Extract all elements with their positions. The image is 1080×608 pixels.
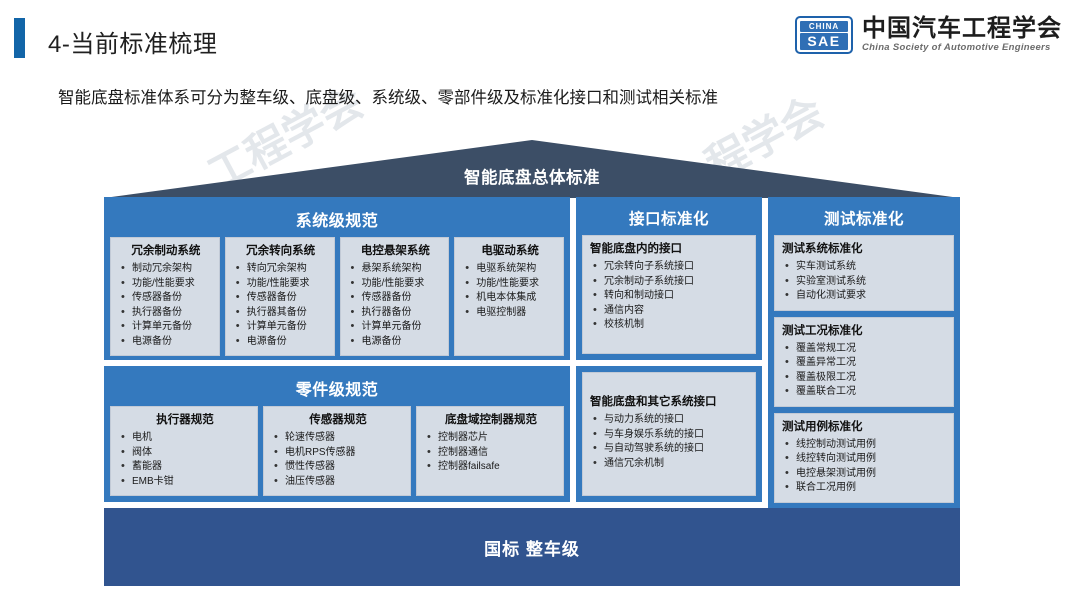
card-item-list: 悬架系统架构 功能/性能要求 传感器备份 执行器备份 计算单元备份 电源备份 [348,262,444,349]
list-item: 传感器备份 [233,291,329,306]
list-item: 功能/性能要求 [118,277,214,292]
card-item-list: 实车测试系统 实验室测试系统 自动化测试要求 [782,260,948,304]
logo-name-en: China Society of Automotive Engineers [862,42,1062,54]
list-item: 传感器备份 [348,291,444,306]
card-title: 执行器规范 [118,413,252,428]
list-item: 传感器备份 [118,291,214,306]
list-item: 制动冗余架构 [118,262,214,277]
list-item: 计算单元备份 [118,320,214,335]
card-test-condition-standardization[interactable]: 测试工况标准化 覆盖常规工况 覆盖异常工况 覆盖极限工况 覆盖联合工况 [774,317,954,407]
card-title: 测试用例标准化 [782,420,948,435]
card-test-system-standardization[interactable]: 测试系统标准化 实车测试系统 实验室测试系统 自动化测试要求 [774,235,954,311]
sae-badge-icon: CHINA SAE [795,16,853,54]
list-item: 惯性传感器 [271,460,405,475]
diagram-roof: 智能底盘总体标准 [104,140,960,198]
diagram-base[interactable]: 国标 整车级 [104,508,960,586]
card-item-list: 与动力系统的接口 与车身娱乐系统的接口 与自动驾驶系统的接口 通信冗余机制 [590,413,750,471]
column-left: 系统级规范 冗余制动系统 制动冗余架构 功能/性能要求 传感器备份 执行器备份 … [104,197,570,502]
card-sensor-spec[interactable]: 传感器规范 轮速传感器 电机RPS传感器 惯性传感器 油压传感器 [263,406,411,496]
card-title: 智能底盘内的接口 [590,242,750,257]
title-accent-bar [14,18,25,58]
list-item: 覆盖极限工况 [782,371,948,386]
list-item: 执行器备份 [118,306,214,321]
card-test-case-standardization[interactable]: 测试用例标准化 线控制动测试用例 线控转向测试用例 电控悬架测试用例 联合工况用… [774,413,954,503]
panel-interface-standardization[interactable]: 接口标准化 智能底盘内的接口 冗余转向子系统接口 冗余制动子系统接口 转向和制动… [576,197,762,360]
panel-test-standardization[interactable]: 测试标准化 测试系统标准化 实车测试系统 实验室测试系统 自动化测试要求 测试工… [768,197,960,509]
card-actuator-spec[interactable]: 执行器规范 电机 阀体 蓄能器 EMB卡钳 [110,406,258,496]
list-item: 电机RPS传感器 [271,446,405,461]
list-item: EMB卡钳 [118,475,252,490]
card-title: 底盘域控制器规范 [424,413,558,428]
list-item: 覆盖常规工况 [782,342,948,357]
roof-label: 智能底盘总体标准 [104,140,960,198]
panel-cards: 智能底盘内的接口 冗余转向子系统接口 冗余制动子系统接口 转向和制动接口 通信内… [582,235,756,354]
card-item-list: 制动冗余架构 功能/性能要求 传感器备份 执行器备份 计算单元备份 电源备份 [118,262,214,349]
list-item: 覆盖异常工况 [782,356,948,371]
card-item-list: 冗余转向子系统接口 冗余制动子系统接口 转向和制动接口 通信内容 校核机制 [590,260,750,333]
card-title: 电驱动系统 [462,244,558,259]
card-item-list: 控制器芯片 控制器通信 控制器failsafe [424,431,558,475]
list-item: 电控悬架测试用例 [782,467,948,482]
card-electric-drive[interactable]: 电驱动系统 电驱系统架构 功能/性能要求 机电本体集成 电驱控制器 [454,237,564,356]
column-test: 测试标准化 测试系统标准化 实车测试系统 实验室测试系统 自动化测试要求 测试工… [768,197,960,502]
panel-cards: 冗余制动系统 制动冗余架构 功能/性能要求 传感器备份 执行器备份 计算单元备份… [110,237,564,356]
logo-name-cn: 中国汽车工程学会 [862,16,1062,42]
card-item-list: 转向冗余架构 功能/性能要求 传感器备份 执行器其备份 计算单元备份 电源备份 [233,262,329,349]
card-chassis-domain-controller-spec[interactable]: 底盘域控制器规范 控制器芯片 控制器通信 控制器failsafe [416,406,564,496]
slide: 工程学会 程学会 会 4-当前标准梳理 智能底盘标准体系可分为整车级、底盘级、系… [0,0,1080,608]
card-title: 智能底盘和其它系统接口 [590,395,750,410]
card-internal-chassis-interface[interactable]: 智能底盘内的接口 冗余转向子系统接口 冗余制动子系统接口 转向和制动接口 通信内… [582,235,756,354]
list-item: 蓄能器 [118,460,252,475]
panel-part-level[interactable]: 零件级规范 执行器规范 电机 阀体 蓄能器 EMB卡钳 传感器规范 [104,366,570,502]
logo-text: 中国汽车工程学会 China Society of Automotive Eng… [862,16,1062,54]
list-item: 油压传感器 [271,475,405,490]
list-item: 执行器备份 [348,306,444,321]
list-item: 通信冗余机制 [590,457,750,472]
card-title: 测试工况标准化 [782,324,948,339]
card-item-list: 电机 阀体 蓄能器 EMB卡钳 [118,431,252,489]
list-item: 自动化测试要求 [782,289,948,304]
panel-cards: 执行器规范 电机 阀体 蓄能器 EMB卡钳 传感器规范 轮速传感器 电机RPS传… [110,406,564,496]
list-item: 与车身娱乐系统的接口 [590,428,750,443]
list-item: 电驱控制器 [462,306,558,321]
badge-bottom-label: SAE [800,33,848,50]
card-electronic-suspension[interactable]: 电控悬架系统 悬架系统架构 功能/性能要求 传感器备份 执行器备份 计算单元备份… [340,237,450,356]
list-item: 功能/性能要求 [462,277,558,292]
list-item: 线控制动测试用例 [782,438,948,453]
card-title: 测试系统标准化 [782,242,948,257]
list-item: 联合工况用例 [782,481,948,496]
list-item: 电驱系统架构 [462,262,558,277]
card-title: 冗余制动系统 [118,244,214,259]
organization-logo: CHINA SAE 中国汽车工程学会 China Society of Auto… [795,16,1062,54]
list-item: 控制器通信 [424,446,558,461]
list-item: 与动力系统的接口 [590,413,750,428]
list-item: 功能/性能要求 [233,277,329,292]
list-item: 执行器其备份 [233,306,329,321]
list-item: 悬架系统架构 [348,262,444,277]
list-item: 与自动驾驶系统的接口 [590,442,750,457]
list-item: 电源备份 [118,335,214,350]
column-interface: 接口标准化 智能底盘内的接口 冗余转向子系统接口 冗余制动子系统接口 转向和制动… [576,197,762,502]
panel-cards: 智能底盘和其它系统接口 与动力系统的接口 与车身娱乐系统的接口 与自动驾驶系统的… [582,372,756,496]
list-item: 功能/性能要求 [348,277,444,292]
list-item: 轮速传感器 [271,431,405,446]
list-item: 计算单元备份 [348,320,444,335]
list-item: 冗余制动子系统接口 [590,275,750,290]
diagram-body: 系统级规范 冗余制动系统 制动冗余架构 功能/性能要求 传感器备份 执行器备份 … [104,197,960,502]
card-title: 冗余转向系统 [233,244,329,259]
panel-title: 系统级规范 [110,203,564,237]
panel-title: 零件级规范 [110,372,564,406]
list-item: 线控转向测试用例 [782,452,948,467]
list-item: 控制器芯片 [424,431,558,446]
panel-external-interface[interactable]: 智能底盘和其它系统接口 与动力系统的接口 与车身娱乐系统的接口 与自动驾驶系统的… [576,366,762,502]
card-title: 传感器规范 [271,413,405,428]
list-item: 校核机制 [590,318,750,333]
card-title: 电控悬架系统 [348,244,444,259]
badge-top-label: CHINA [800,21,848,32]
card-redundant-steering[interactable]: 冗余转向系统 转向冗余架构 功能/性能要求 传感器备份 执行器其备份 计算单元备… [225,237,335,356]
page-subtitle: 智能底盘标准体系可分为整车级、底盘级、系统级、零部件级及标准化接口和测试相关标准 [58,84,718,108]
list-item: 通信内容 [590,304,750,319]
list-item: 电源备份 [348,335,444,350]
card-redundant-braking[interactable]: 冗余制动系统 制动冗余架构 功能/性能要求 传感器备份 执行器备份 计算单元备份… [110,237,220,356]
list-item: 控制器failsafe [424,460,558,475]
panel-system-level[interactable]: 系统级规范 冗余制动系统 制动冗余架构 功能/性能要求 传感器备份 执行器备份 … [104,197,570,360]
base-label: 国标 整车级 [484,535,580,560]
card-external-system-interface[interactable]: 智能底盘和其它系统接口 与动力系统的接口 与车身娱乐系统的接口 与自动驾驶系统的… [582,372,756,496]
list-item: 冗余转向子系统接口 [590,260,750,275]
list-item: 实车测试系统 [782,260,948,275]
card-item-list: 线控制动测试用例 线控转向测试用例 电控悬架测试用例 联合工况用例 [782,438,948,496]
card-item-list: 覆盖常规工况 覆盖异常工况 覆盖极限工况 覆盖联合工况 [782,342,948,400]
list-item: 计算单元备份 [233,320,329,335]
list-item: 实验室测试系统 [782,275,948,290]
panel-title: 测试标准化 [774,203,954,235]
list-item: 电机 [118,431,252,446]
list-item: 阀体 [118,446,252,461]
page-title: 4-当前标准梳理 [48,24,217,59]
list-item: 机电本体集成 [462,291,558,306]
panel-cards: 测试系统标准化 实车测试系统 实验室测试系统 自动化测试要求 测试工况标准化 覆… [774,235,954,503]
list-item: 转向冗余架构 [233,262,329,277]
card-item-list: 轮速传感器 电机RPS传感器 惯性传感器 油压传感器 [271,431,405,489]
list-item: 转向和制动接口 [590,289,750,304]
list-item: 电源备份 [233,335,329,350]
list-item: 覆盖联合工况 [782,385,948,400]
panel-title: 接口标准化 [582,203,756,235]
card-item-list: 电驱系统架构 功能/性能要求 机电本体集成 电驱控制器 [462,262,558,320]
